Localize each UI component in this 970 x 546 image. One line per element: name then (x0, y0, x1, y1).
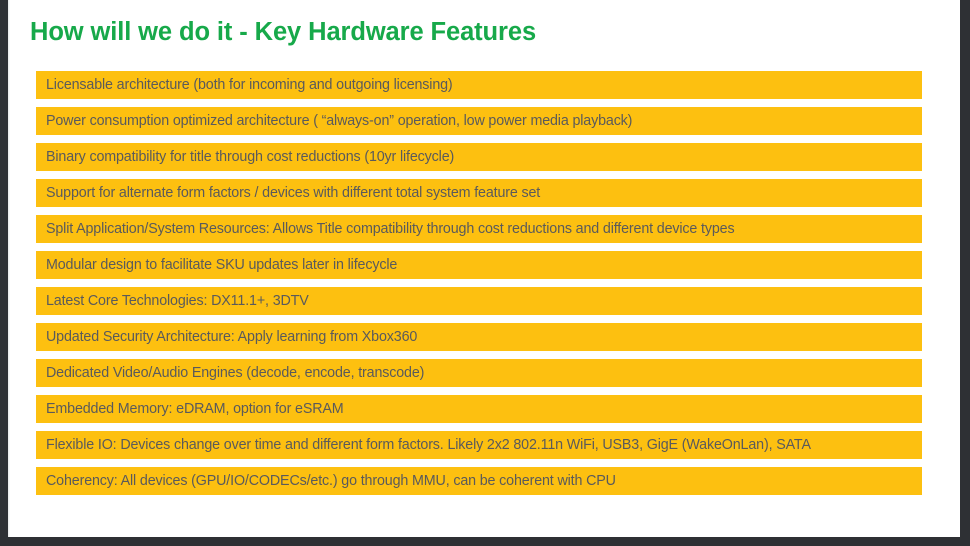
feature-label: Updated Security Architecture: Apply lea… (46, 330, 417, 344)
slide-canvas: How will we do it - Key Hardware Feature… (8, 0, 960, 537)
feature-row: Latest Core Technologies: DX11.1+, 3DTV (36, 287, 922, 315)
feature-row: Power consumption optimized architecture… (36, 107, 922, 135)
feature-row: Coherency: All devices (GPU/IO/CODECs/et… (36, 467, 922, 495)
feature-row: Embedded Memory: eDRAM, option for eSRAM (36, 395, 922, 423)
feature-row: Updated Security Architecture: Apply lea… (36, 323, 922, 351)
feature-list: Licensable architecture (both for incomi… (36, 71, 922, 503)
feature-row: Dedicated Video/Audio Engines (decode, e… (36, 359, 922, 387)
feature-label: Embedded Memory: eDRAM, option for eSRAM (46, 402, 344, 416)
feature-row: Flexible IO: Devices change over time an… (36, 431, 922, 459)
feature-label: Binary compatibility for title through c… (46, 150, 454, 164)
feature-label: Modular design to facilitate SKU updates… (46, 258, 397, 272)
page-title: How will we do it - Key Hardware Feature… (30, 17, 536, 48)
slide-viewer: How will we do it - Key Hardware Feature… (0, 0, 970, 546)
feature-label: Licensable architecture (both for incomi… (46, 78, 453, 92)
feature-label: Flexible IO: Devices change over time an… (46, 438, 811, 452)
feature-row: Binary compatibility for title through c… (36, 143, 922, 171)
feature-row: Support for alternate form factors / dev… (36, 179, 922, 207)
feature-row: Split Application/System Resources: Allo… (36, 215, 922, 243)
feature-row: Modular design to facilitate SKU updates… (36, 251, 922, 279)
feature-label: Latest Core Technologies: DX11.1+, 3DTV (46, 294, 309, 308)
feature-label: Dedicated Video/Audio Engines (decode, e… (46, 366, 424, 380)
feature-label: Split Application/System Resources: Allo… (46, 222, 734, 236)
feature-label: Support for alternate form factors / dev… (46, 186, 540, 200)
feature-label: Power consumption optimized architecture… (46, 114, 632, 128)
feature-row: Licensable architecture (both for incomi… (36, 71, 922, 99)
feature-label: Coherency: All devices (GPU/IO/CODECs/et… (46, 474, 616, 488)
